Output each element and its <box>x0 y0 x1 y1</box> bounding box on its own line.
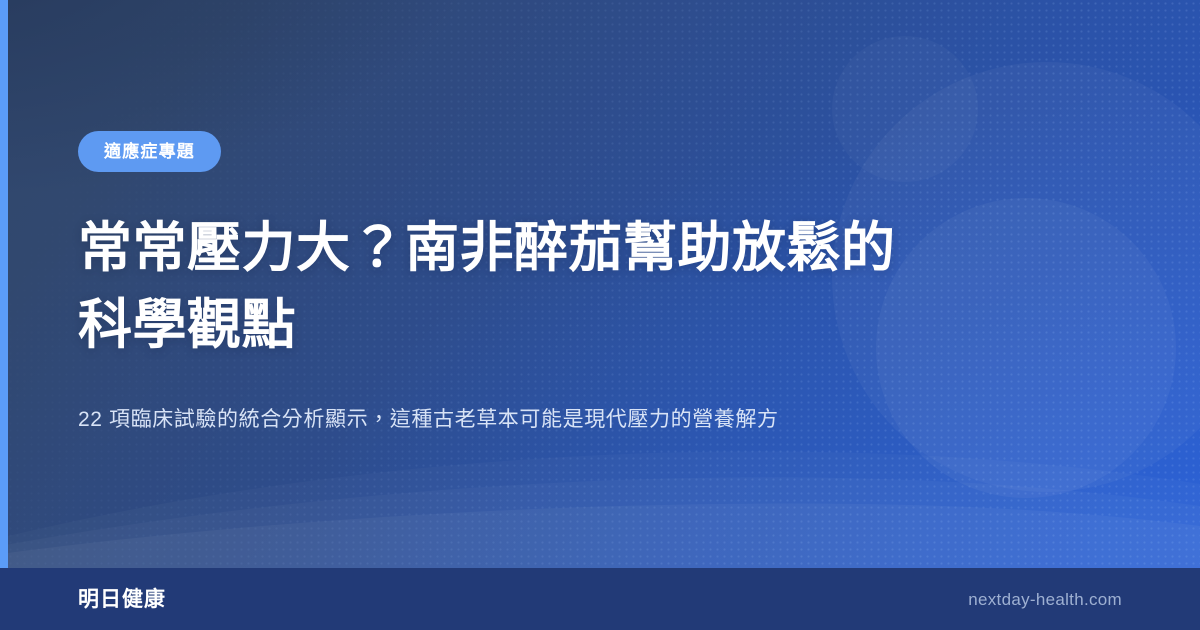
left-accent-bar <box>0 0 8 630</box>
footer-brand-name: 明日健康 <box>78 589 166 610</box>
card-content: 適應症專題 常常壓力大？南非醉茄幫助放鬆的科學觀點 22 項臨床試驗的統合分析顯… <box>78 0 938 568</box>
footer-site-url: nextday-health.com <box>968 591 1122 608</box>
card-title: 常常壓力大？南非醉茄幫助放鬆的科學觀點 <box>78 210 908 363</box>
card-footer: 明日健康 nextday-health.com <box>0 568 1200 630</box>
category-badge: 適應症專題 <box>78 131 221 172</box>
card-subtitle: 22 項臨床試驗的統合分析顯示，這種古老草本可能是現代壓力的營養解方 <box>78 403 918 437</box>
social-share-card: 適應症專題 常常壓力大？南非醉茄幫助放鬆的科學觀點 22 項臨床試驗的統合分析顯… <box>0 0 1200 630</box>
